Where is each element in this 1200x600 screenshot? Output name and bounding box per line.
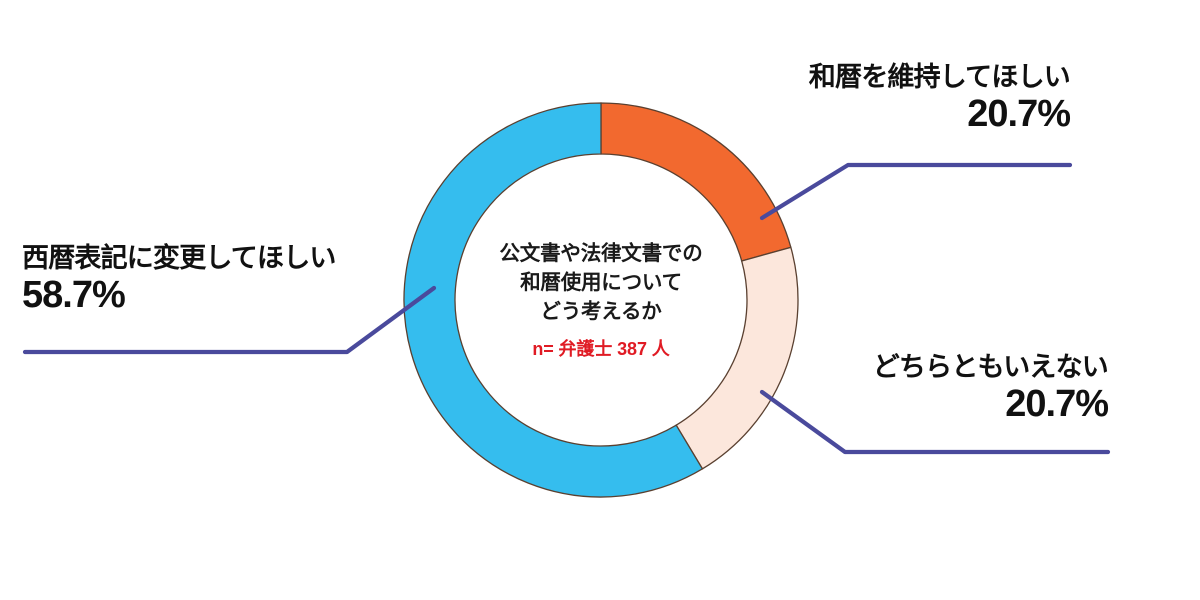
callout-neither-label: どちらともいえない <box>873 352 1108 383</box>
callout-neither: どちらともいえない 20.7% <box>873 352 1108 426</box>
callout-change: 西暦表記に変更してほしい 58.7% <box>22 243 336 317</box>
callout-maintain: 和暦を維持してほしい 20.7% <box>809 62 1070 136</box>
donut-chart: 公文書や法律文書での 和暦使用について どう考えるか n= 弁護士 387 人 … <box>0 0 1200 600</box>
callout-change-value: 58.7% <box>22 274 336 317</box>
callout-maintain-value: 20.7% <box>809 93 1070 136</box>
donut-slices <box>404 103 798 497</box>
callout-maintain-label: 和暦を維持してほしい <box>809 62 1070 93</box>
leader-line-maintain <box>762 165 1070 218</box>
slice-maintain[interactable] <box>601 103 791 261</box>
callout-change-label: 西暦表記に変更してほしい <box>22 243 336 274</box>
callout-neither-value: 20.7% <box>873 383 1108 426</box>
slice-neither[interactable] <box>676 247 798 469</box>
